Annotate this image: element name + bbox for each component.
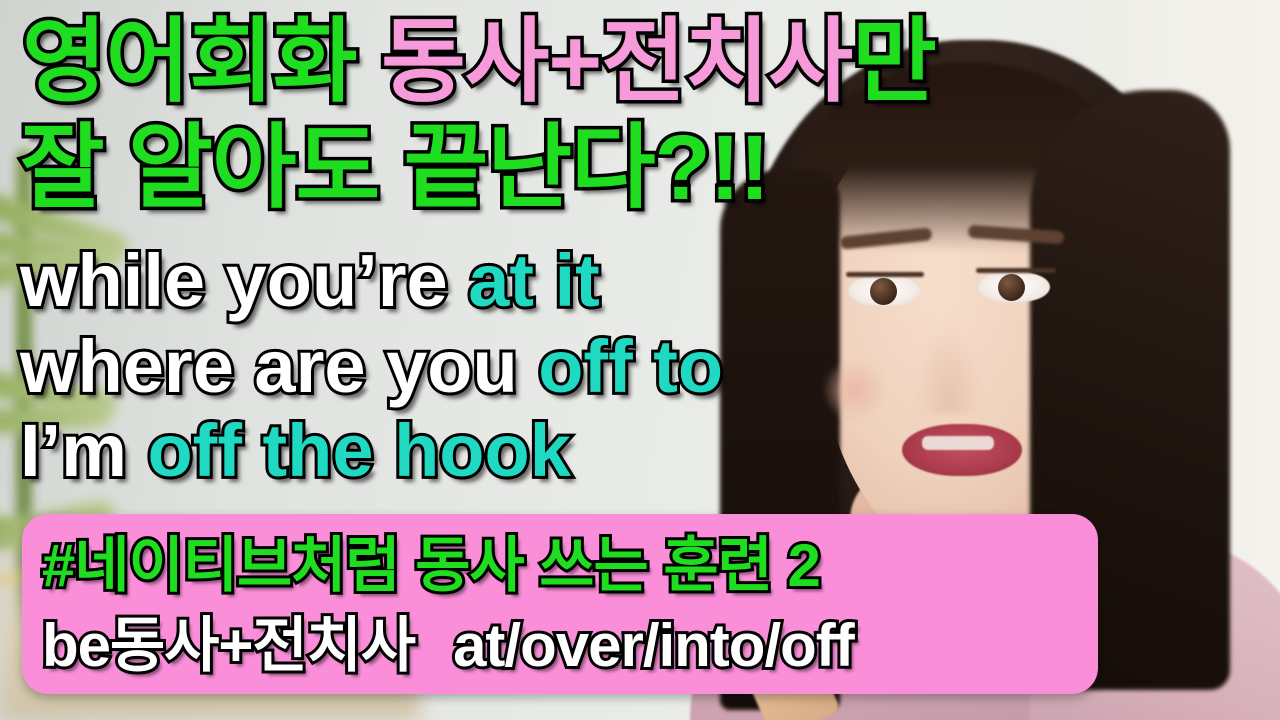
banner-line-2-right: at/over/into/off — [453, 612, 854, 679]
headline-line-2: 잘 알아도 끝난다?!! — [20, 122, 769, 214]
banner-line-2: be동사+전치사at/over/into/off — [42, 616, 854, 676]
phrase-highlight: at it — [468, 239, 600, 322]
phrase-line-2: where are you off to — [20, 330, 723, 404]
headline-part: 잘 알아도 끝난다?!! — [20, 117, 769, 219]
banner-line-2-left: be동사+전치사 — [42, 612, 415, 679]
banner-line-1: #네이티브처럼 동사 쓰는 훈련 2 — [42, 536, 820, 596]
phrase-highlight: off to — [538, 325, 723, 408]
hashtag-banner: #네이티브처럼 동사 쓰는 훈련 2 be동사+전치사at/over/into/… — [22, 514, 1098, 694]
phrase-part: while you’re — [20, 239, 468, 322]
phrase-line-3: I’m off the hook — [20, 414, 571, 488]
phrase-line-1: while you’re at it — [20, 244, 600, 318]
youtube-thumbnail: 영어회화 동사+전치사만 잘 알아도 끝난다?!! while you’re a… — [0, 0, 1280, 720]
headline-part: 동사+전치사 — [381, 11, 852, 113]
phrase-part: I’m — [20, 409, 147, 492]
headline-part: 영어회화 — [22, 11, 381, 113]
headline-line-1: 영어회화 동사+전치사만 — [22, 16, 936, 108]
phrase-highlight: off the hook — [147, 409, 570, 492]
text-overlay: 영어회화 동사+전치사만 잘 알아도 끝난다?!! while you’re a… — [0, 0, 1280, 720]
headline-part: 만 — [852, 11, 936, 113]
phrase-part: where are you — [20, 325, 538, 408]
